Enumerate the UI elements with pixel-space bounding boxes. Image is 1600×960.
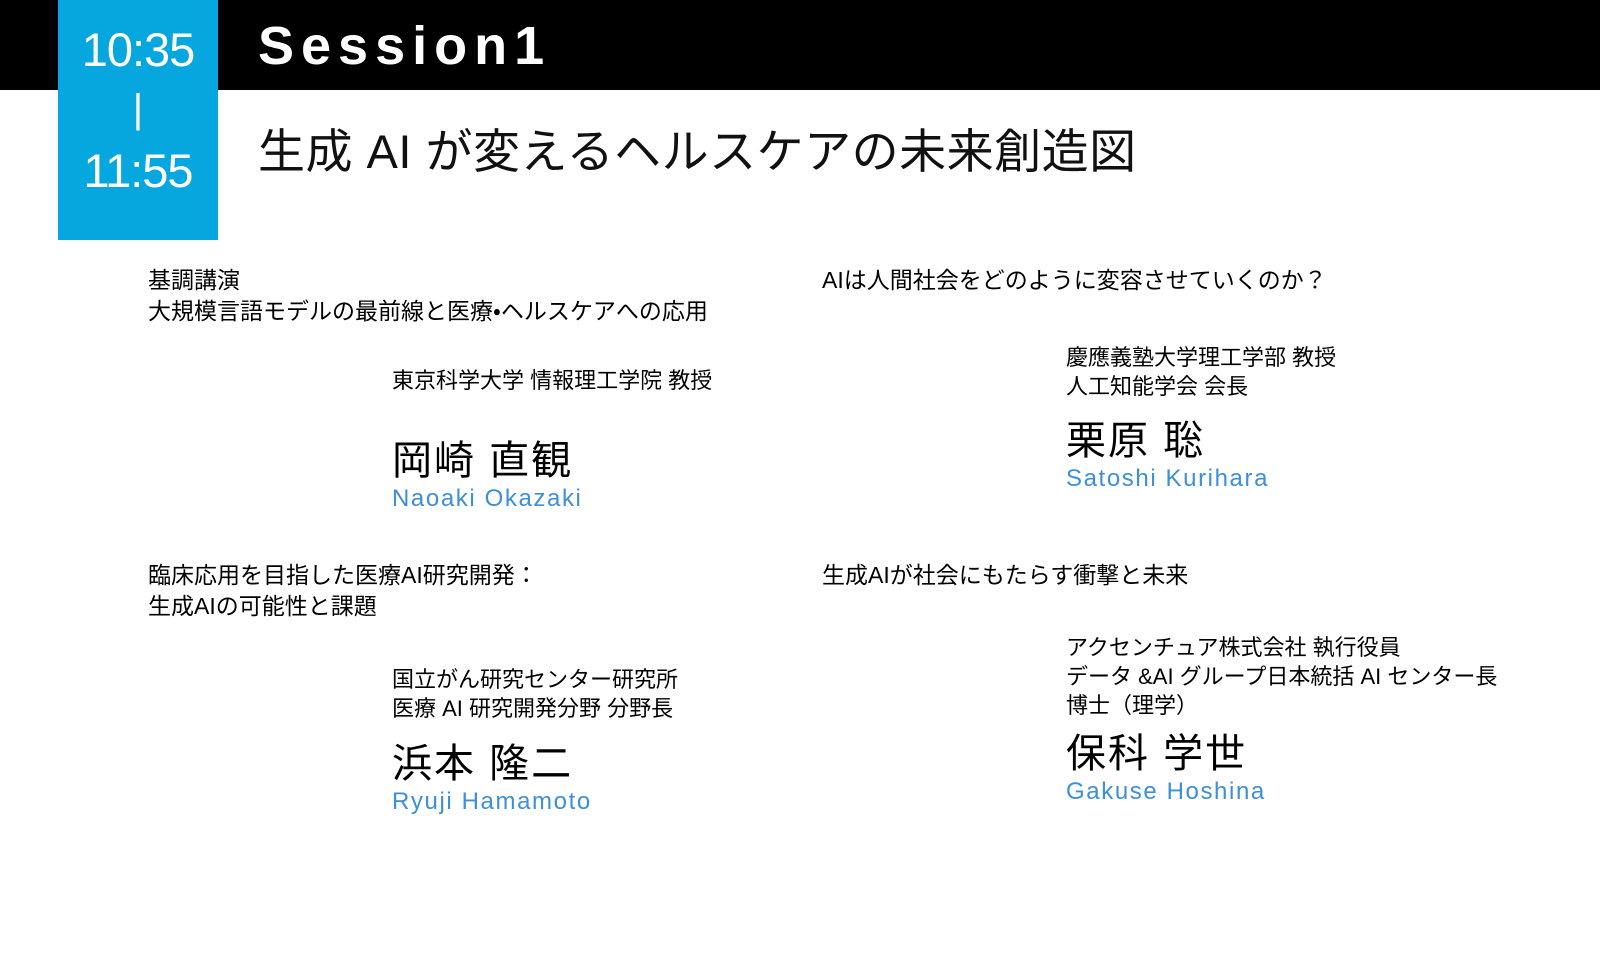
- header-black-band: [0, 0, 1600, 90]
- speaker-name-romaji: Naoaki Okazaki: [392, 485, 808, 514]
- session-title: 生成 AI が変えるヘルスケアの未来創造図: [258, 128, 1137, 175]
- speaker-affiliation: 慶應義塾大学理工学部 教授 人工知能学会 会長: [1066, 343, 1522, 402]
- speaker-affiliation: アクセンチュア株式会社 執行役員 データ &AI グループ日本統括 AI センタ…: [1066, 633, 1522, 721]
- speaker-card-top-right: AIは人間社会をどのように変容させていくのか？ 慶應義塾大学理工学部 教授 人工…: [822, 265, 1522, 494]
- speaker-name-romaji: Gakuse Hoshina: [1066, 778, 1522, 807]
- speaker-detail: 国立がん研究センター研究所 医療 AI 研究開発分野 分野長 浜本 隆二 Ryu…: [148, 665, 808, 816]
- speaker-name-ja: 岡崎 直観: [392, 439, 808, 483]
- session-label: Session1: [258, 19, 551, 73]
- speaker-name-ja: 栗原 聡: [1066, 419, 1522, 463]
- speaker-affiliation: 東京科学大学 情報理工学院 教授: [392, 366, 808, 395]
- speaker-name-romaji: Ryuji Hamamoto: [392, 788, 808, 817]
- time-range-separator: |: [133, 89, 143, 129]
- speaker-detail: 慶應義塾大学理工学部 教授 人工知能学会 会長 栗原 聡 Satoshi Kur…: [822, 343, 1522, 494]
- speaker-card-bottom-left: 臨床応用を目指した医療AI研究開発： 生成AIの可能性と課題 国立がん研究センタ…: [148, 560, 808, 816]
- speaker-detail: 東京科学大学 情報理工学院 教授 岡崎 直観 Naoaki Okazaki: [148, 366, 808, 514]
- speaker-card-bottom-right: 生成AIが社会にもたらす衝撃と未来 アクセンチュア株式会社 執行役員 データ &…: [822, 560, 1522, 807]
- speaker-affiliation: 国立がん研究センター研究所 医療 AI 研究開発分野 分野長: [392, 665, 808, 724]
- speaker-name-romaji: Satoshi Kurihara: [1066, 465, 1522, 494]
- speaker-name-ja: 保科 学世: [1066, 732, 1522, 776]
- speaker-topic: 臨床応用を目指した医療AI研究開発： 生成AIの可能性と課題: [148, 560, 808, 621]
- session-end-time: 11:55: [83, 147, 192, 194]
- speaker-topic: 基調講演 大規模言語モデルの最前線と医療・ヘルスケアへの応用: [148, 265, 808, 326]
- session-start-time: 10:35: [82, 26, 195, 73]
- speaker-topic: 生成AIが社会にもたらす衝撃と未来: [822, 560, 1522, 591]
- speaker-name-ja: 浜本 隆二: [392, 742, 808, 786]
- session-time-badge: 10:35 | 11:55: [58, 0, 218, 240]
- speaker-card-top-left: 基調講演 大規模言語モデルの最前線と医療・ヘルスケアへの応用 東京科学大学 情報…: [148, 265, 808, 514]
- speaker-topic: AIは人間社会をどのように変容させていくのか？: [822, 265, 1522, 296]
- speaker-detail: アクセンチュア株式会社 執行役員 データ &AI グループ日本統括 AI センタ…: [822, 633, 1522, 808]
